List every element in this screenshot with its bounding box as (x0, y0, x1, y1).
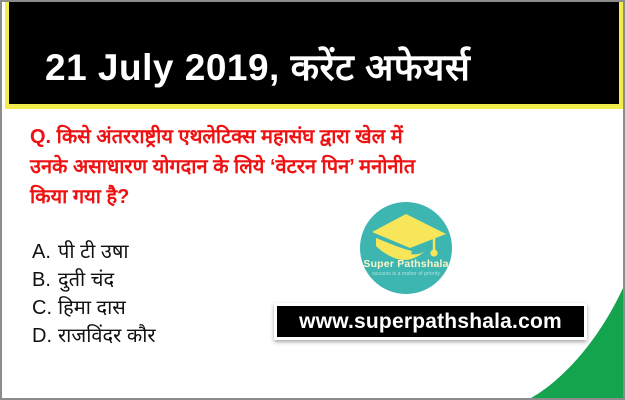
option-text-b: दुती चंद (58, 266, 114, 294)
header-banner: 21 July 2019, करेंट अफेयर्स (5, 2, 623, 109)
option-letter-d: D. (32, 322, 58, 350)
option-text-a: पी टी उषा (58, 238, 129, 266)
option-letter-c: C. (32, 294, 58, 322)
question-text: Q. किसे अंतरराष्ट्रीय एथलेटिक्स महासंघ द… (30, 122, 602, 212)
question-line-2: उनके असाधारण योगदान के लिये ‘वेटरन पिन’ … (30, 152, 602, 182)
option-text-c: हिमा दास (58, 294, 126, 322)
option-row-d[interactable]: D. राजविंदर कौर (32, 322, 292, 350)
brand-logo: Super Pathshala success is a matter of p… (360, 202, 452, 294)
website-url-text: www.superpathshala.com (299, 310, 562, 334)
option-letter-b: B. (32, 266, 58, 294)
logo-tagline: success is a matter of priority (360, 271, 452, 277)
option-letter-a: A. (32, 238, 58, 266)
option-row-b[interactable]: B. दुती चंद (32, 266, 292, 294)
question-line-3: किया गया है? (30, 182, 602, 212)
current-affairs-question-card: 21 July 2019, करेंट अफेयर्स Q. किसे अंतर… (0, 0, 625, 400)
answer-options-list: A. पी टी उषा B. दुती चंद C. हिमा दास D. … (32, 238, 292, 350)
logo-brand-name: Super Pathshala (360, 258, 452, 270)
website-url-banner[interactable]: www.superpathshala.com (274, 303, 587, 340)
page-title: 21 July 2019, करेंट अफेयर्स (45, 46, 470, 90)
question-line-1: Q. किसे अंतरराष्ट्रीय एथलेटिक्स महासंघ द… (30, 122, 602, 152)
option-row-a[interactable]: A. पी टी उषा (32, 238, 292, 266)
option-text-d: राजविंदर कौर (58, 322, 156, 350)
option-row-c[interactable]: C. हिमा दास (32, 294, 292, 322)
